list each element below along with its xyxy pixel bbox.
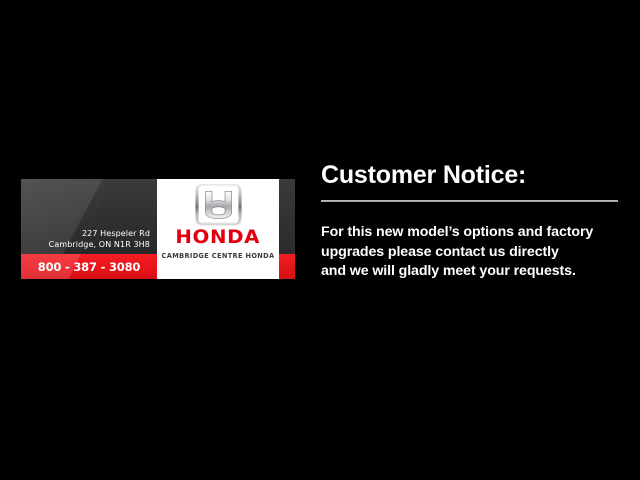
notice-divider [321, 200, 618, 202]
dealer-address: 227 Hespeler Rd Cambridge, ON N1R 3H8 [49, 228, 150, 250]
honda-wordmark: HONDA [176, 227, 261, 247]
notice-body: For this new model’s options and factory… [321, 223, 619, 282]
notice-body-line-1: For this new model’s options and factory [321, 223, 619, 243]
honda-logo-panel: HONDA CAMBRIDGE CENTRE HONDA [157, 179, 279, 279]
banner-right-red-strip [279, 254, 295, 279]
page-background: 227 Hespeler Rd Cambridge, ON N1R 3H8 80… [0, 0, 640, 480]
dealer-address-line-2: Cambridge, ON N1R 3H8 [49, 239, 150, 250]
dealer-banner[interactable]: 227 Hespeler Rd Cambridge, ON N1R 3H8 80… [21, 179, 295, 279]
dealer-address-panel: 227 Hespeler Rd Cambridge, ON N1R 3H8 [21, 179, 157, 255]
dealer-address-line-1: 227 Hespeler Rd [49, 228, 150, 239]
dealer-name: CAMBRIDGE CENTRE HONDA [162, 252, 275, 260]
dealer-phone-bar[interactable]: 800 - 387 - 3080 [21, 254, 157, 279]
honda-h-emblem-icon [195, 183, 242, 226]
banner-right-dark-strip [279, 179, 295, 255]
customer-notice-block: Customer Notice: For this new model’s op… [321, 160, 619, 282]
notice-title: Customer Notice: [321, 160, 619, 190]
dealer-phone-number: 800 - 387 - 3080 [21, 260, 157, 274]
notice-body-line-2: upgrades please contact us directly [321, 243, 619, 263]
notice-body-line-3: and we will gladly meet your requests. [321, 262, 619, 282]
